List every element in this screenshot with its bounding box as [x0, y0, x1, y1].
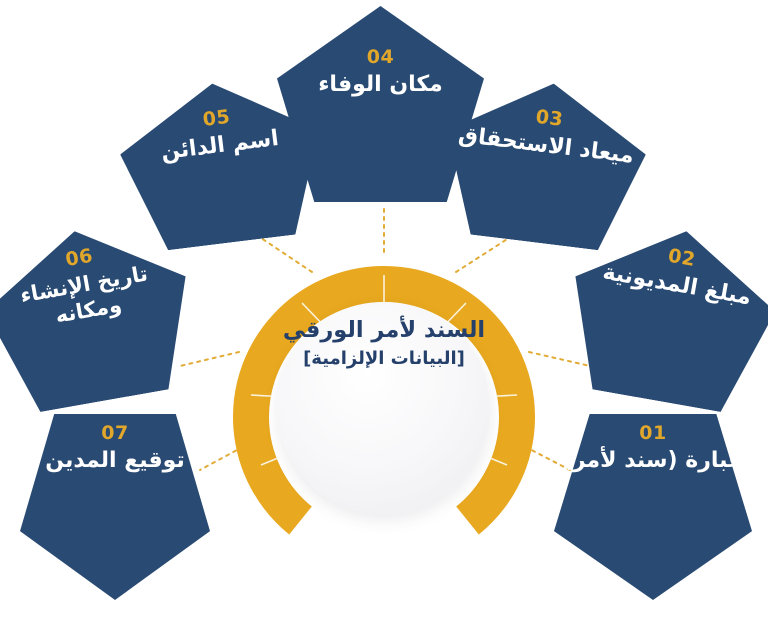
- node-label-01: عبارة (سند لأمر): [554, 448, 752, 475]
- infographic-canvas: السند لأمر الورقي [البيانات الإلزامية] 0…: [0, 0, 768, 644]
- node-number-05: 05: [202, 106, 232, 131]
- node-02-debt-amount[interactable]: 02 مبلغ المديونية: [557, 214, 768, 419]
- node-label-07: توقيع المدين: [20, 448, 210, 475]
- node-number-07: 07: [101, 422, 128, 444]
- node-content-02: 02 مبلغ المديونية: [557, 214, 768, 419]
- node-number-06: 06: [64, 245, 95, 271]
- hub-title: السند لأمر الورقي: [271, 317, 497, 344]
- node-label-06: تاريخ الإنشاء ومكانه: [0, 255, 191, 341]
- node-07-debtor-signature[interactable]: 07 توقيع المدين: [20, 414, 210, 600]
- node-06-creation-date-and-place[interactable]: 06 تاريخ الإنشاء ومكانه: [0, 214, 204, 419]
- node-number-02: 02: [666, 245, 697, 271]
- node-number-01: 01: [639, 422, 666, 444]
- node-content-06: 06 تاريخ الإنشاء ومكانه: [0, 214, 204, 419]
- node-content-01: 01 عبارة (سند لأمر): [554, 414, 752, 600]
- center-hub: السند لأمر الورقي [البيانات الإلزامية]: [231, 255, 537, 561]
- node-01-promissory-note-phrase[interactable]: 01 عبارة (سند لأمر): [554, 414, 752, 600]
- node-number-03: 03: [535, 106, 565, 131]
- hub-text-block: السند لأمر الورقي [البيانات الإلزامية]: [271, 317, 497, 369]
- node-number-04: 04: [367, 46, 394, 68]
- node-content-07: 07 توقيع المدين: [20, 414, 210, 600]
- hub-subtitle: [البيانات الإلزامية]: [271, 348, 497, 369]
